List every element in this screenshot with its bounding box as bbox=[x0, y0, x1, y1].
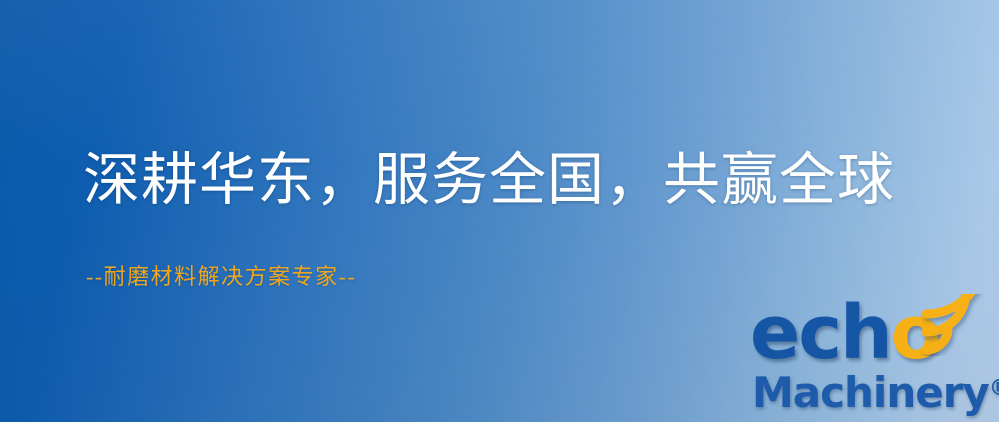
logo-mark: echo Machinery® bbox=[744, 296, 999, 422]
echo-waves-icon bbox=[920, 294, 999, 356]
logo-subtext: Machinery® bbox=[752, 372, 999, 414]
page-title: 深耕华东，服务全国，共赢全球 bbox=[83, 152, 895, 209]
logo-wordmark-prefix: ech bbox=[750, 290, 891, 376]
page-subtitle: --耐磨材料解决方案专家-- bbox=[86, 266, 356, 288]
logo-subtext-label: Machinery bbox=[752, 368, 989, 417]
hero-banner: 深耕华东，服务全国，共赢全球 --耐磨材料解决方案专家-- echo Machi… bbox=[0, 0, 999, 422]
logo-wordmark: echo bbox=[750, 296, 940, 370]
company-logo[interactable]: echo Machinery® bbox=[744, 296, 999, 422]
registered-trademark-icon: ® bbox=[989, 376, 999, 401]
